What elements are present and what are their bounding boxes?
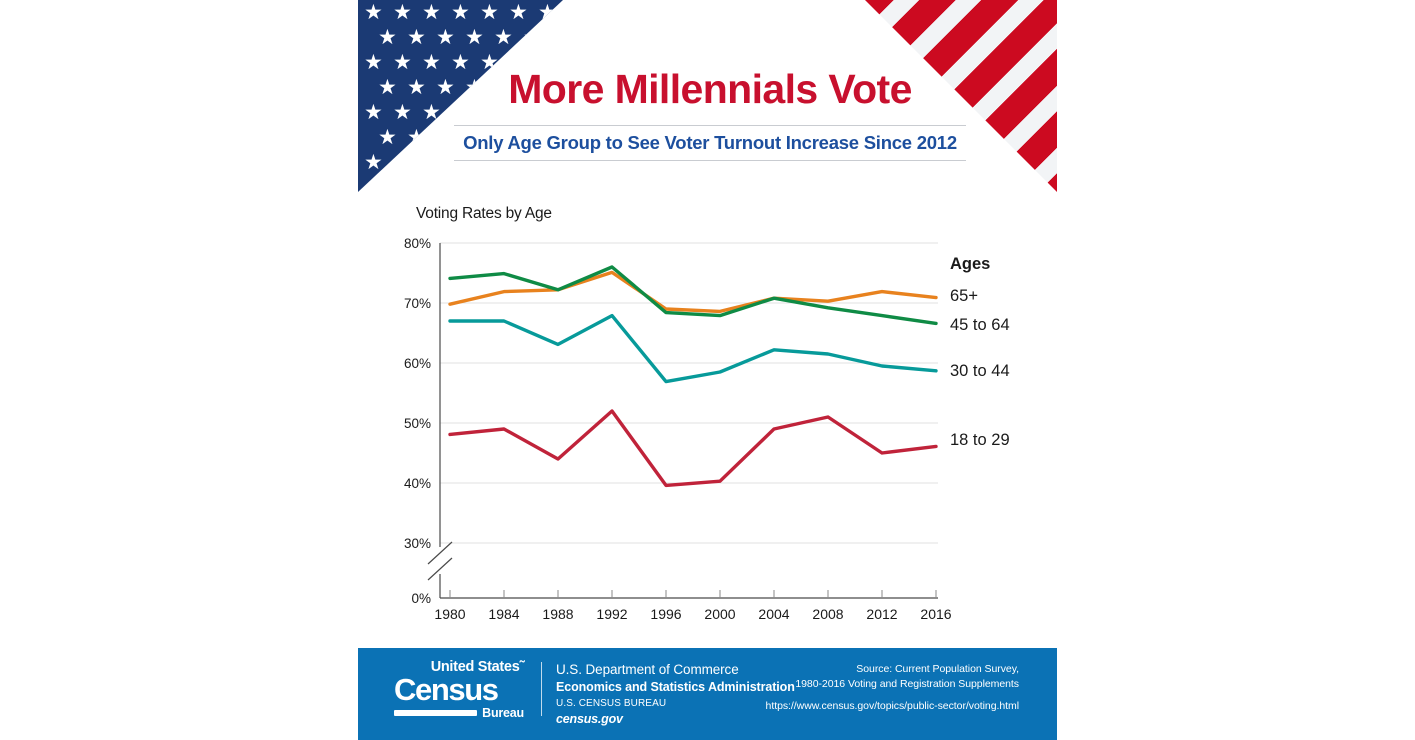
logo-census-text: Census xyxy=(394,676,524,705)
star-icon: ★ xyxy=(422,2,441,23)
title-group: More Millennials Vote Only Age Group to … xyxy=(454,68,966,161)
star-icon: ★ xyxy=(451,2,470,23)
page-subtitle: Only Age Group to See Voter Turnout Incr… xyxy=(454,126,966,160)
star-icon: ★ xyxy=(480,2,499,23)
star-icon: ★ xyxy=(465,27,484,48)
infographic-panel: ★★★★★★★★★★★★★★★★★★★★★★★★★★★★★★★★★★★★★★★★… xyxy=(358,0,1057,740)
legend-item-45-to-64: 45 to 64 xyxy=(950,316,1010,335)
legend-heading: Ages xyxy=(950,255,990,274)
y-axis-tick-label: 30% xyxy=(404,536,431,551)
page-title: More Millennials Vote xyxy=(454,68,966,111)
x-axis-tick-label: 1984 xyxy=(488,606,519,622)
star-icon: ★ xyxy=(465,177,484,192)
star-icon: ★ xyxy=(494,177,513,192)
y-axis-tick-label: 40% xyxy=(404,476,431,491)
star-icon: ★ xyxy=(538,2,557,23)
star-icon: ★ xyxy=(552,27,563,48)
x-axis-tick-label: 2008 xyxy=(812,606,843,622)
series-line-18-to-29 xyxy=(450,411,936,485)
star-icon: ★ xyxy=(407,177,426,192)
star-icon: ★ xyxy=(436,77,455,98)
star-icon: ★ xyxy=(364,102,383,123)
star-icon: ★ xyxy=(422,152,441,173)
star-icon: ★ xyxy=(393,52,412,73)
star-icon: ★ xyxy=(523,177,542,192)
star-icon: ★ xyxy=(436,27,455,48)
legend-item-18-to-29: 18 to 29 xyxy=(950,431,1010,450)
infographic-canvas: ★★★★★★★★★★★★★★★★★★★★★★★★★★★★★★★★★★★★★★★★… xyxy=(0,0,1415,740)
dept-line-bureau: U.S. CENSUS BUREAU xyxy=(556,696,795,712)
x-axis-tick-label: 2004 xyxy=(758,606,789,622)
star-icon: ★ xyxy=(378,77,397,98)
x-axis-tick-label: 1988 xyxy=(542,606,573,622)
footer-bar: United States˜ Census Bureau U.S. Depart… xyxy=(358,648,1057,740)
x-axis-tick-label: 1992 xyxy=(596,606,627,622)
star-icon: ★ xyxy=(509,2,528,23)
star-icon: ★ xyxy=(378,177,397,192)
star-icon: ★ xyxy=(436,127,455,148)
star-icon: ★ xyxy=(364,152,383,173)
logo-bureau-text: Bureau xyxy=(482,706,524,720)
y-axis-tick-label: 70% xyxy=(404,296,431,311)
department-block: U.S. Department of Commerce Economics an… xyxy=(556,661,795,726)
star-icon: ★ xyxy=(494,27,513,48)
x-axis-tick-label: 2000 xyxy=(704,606,735,622)
y-axis-tick-label-zero: 0% xyxy=(411,591,431,606)
legend-item-65-plus: 65+ xyxy=(950,287,978,306)
star-icon: ★ xyxy=(364,52,383,73)
star-icon: ★ xyxy=(422,102,441,123)
star-icon: ★ xyxy=(407,127,426,148)
star-icon: ★ xyxy=(393,2,412,23)
source-block: Source: Current Population Survey, 1980-… xyxy=(766,662,1019,712)
y-axis-tick-label: 80% xyxy=(404,236,431,251)
header-banner: ★★★★★★★★★★★★★★★★★★★★★★★★★★★★★★★★★★★★★★★★… xyxy=(358,0,1057,192)
subtitle-rule-bottom xyxy=(454,160,966,161)
logo-bottom-row: Bureau xyxy=(394,706,524,720)
series-line-30-to-44 xyxy=(450,316,936,382)
star-icon: ★ xyxy=(407,27,426,48)
dept-line-censusgov: census.gov xyxy=(556,712,795,726)
footer-divider xyxy=(541,662,542,716)
legend-item-30-to-44: 30 to 44 xyxy=(950,362,1010,381)
logo-bar-shape xyxy=(394,710,477,716)
chart-area: Voting Rates by Age 30%40%50%60%70%80%0%… xyxy=(358,192,1057,648)
star-icon: ★ xyxy=(407,77,426,98)
x-axis-tick-label: 1980 xyxy=(434,606,465,622)
star-icon: ★ xyxy=(378,127,397,148)
star-icon: ★ xyxy=(393,152,412,173)
star-icon: ★ xyxy=(523,27,542,48)
source-line-1: Source: Current Population Survey, xyxy=(766,662,1019,677)
x-axis-tick-label: 2016 xyxy=(920,606,951,622)
star-icon: ★ xyxy=(422,52,441,73)
star-icon: ★ xyxy=(552,177,563,192)
star-icon: ★ xyxy=(393,102,412,123)
x-axis-tick-label: 1996 xyxy=(650,606,681,622)
y-axis-tick-label: 50% xyxy=(404,416,431,431)
source-url[interactable]: https://www.census.gov/topics/public-sec… xyxy=(766,700,1019,712)
dept-line-esa: Economics and Statistics Administration xyxy=(556,679,795,696)
x-axis-tick-label: 2012 xyxy=(866,606,897,622)
star-icon: ★ xyxy=(364,2,383,23)
source-line-2: 1980-2016 Voting and Registration Supple… xyxy=(766,677,1019,692)
y-axis-tick-label: 60% xyxy=(404,356,431,371)
star-icon: ★ xyxy=(378,27,397,48)
dept-line-commerce: U.S. Department of Commerce xyxy=(556,661,795,679)
star-icon: ★ xyxy=(436,177,455,192)
census-logo: United States˜ Census Bureau xyxy=(394,660,524,716)
